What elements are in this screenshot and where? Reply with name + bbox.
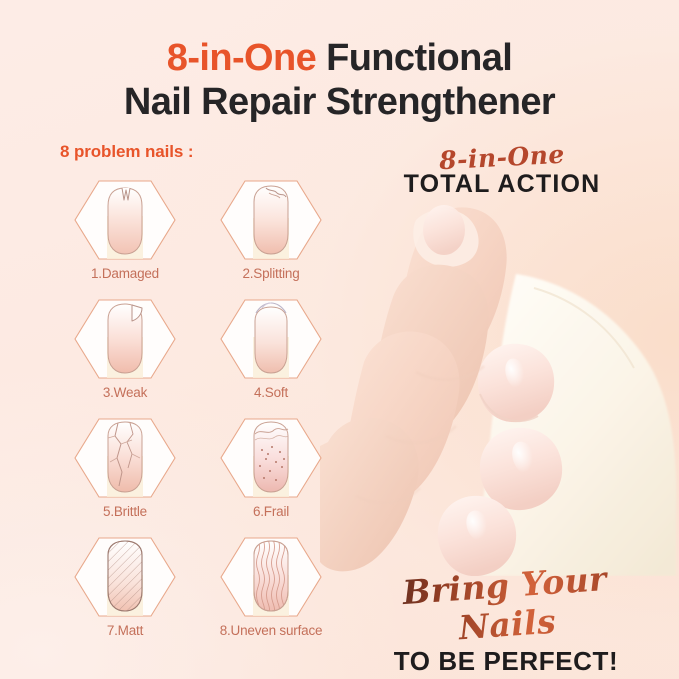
problem-nails-title: 8 problem nails : <box>60 142 340 162</box>
nail-weak-icon <box>60 295 190 383</box>
problem-nail-label: 2.Splitting <box>206 266 336 281</box>
headline-line2: Nail Repair Strengthener <box>26 80 653 124</box>
nail-soft-icon <box>206 295 336 383</box>
total-action-block: 8-in-One TOTAL ACTION <box>352 143 652 199</box>
problem-nail-label: 6.Frail <box>206 504 336 519</box>
poster-canvas: 8-in-One Functional Nail Repair Strength… <box>0 0 679 679</box>
problem-nail-label: 5.Brittle <box>60 504 190 519</box>
problem-nail-item[interactable]: 8.Uneven surface <box>206 533 336 648</box>
headline-accent: 8-in-One <box>167 37 316 79</box>
headline-rest: Functional <box>316 37 512 79</box>
problem-nail-item[interactable]: 1.Damaged <box>60 176 190 291</box>
nail-frail-icon <box>206 414 336 502</box>
problem-nail-item[interactable]: 4.Soft <box>206 295 336 410</box>
problem-nails-section: 8 problem nails : <box>60 142 340 648</box>
nail-splitting-icon <box>206 176 336 264</box>
problem-nail-item[interactable]: 7.Matt <box>60 533 190 648</box>
problem-nail-item[interactable]: 5.Brittle <box>60 414 190 529</box>
problem-nail-label: 3.Weak <box>60 385 190 400</box>
problem-nail-item[interactable]: 6.Frail <box>206 414 336 529</box>
tagline-script: Bring Your Nails <box>348 555 665 655</box>
problem-nail-item[interactable]: 2.Splitting <box>206 176 336 291</box>
problem-nail-label: 8.Uneven surface <box>206 623 336 638</box>
problem-nail-label: 1.Damaged <box>60 266 190 281</box>
manicured-hand-photo <box>320 196 679 576</box>
problem-nail-label: 7.Matt <box>60 623 190 638</box>
nail-matt-icon <box>60 533 190 621</box>
page-title: 8-in-One Functional Nail Repair Strength… <box>0 36 679 125</box>
nail-uneven-icon <box>206 533 336 621</box>
problem-nail-item[interactable]: 3.Weak <box>60 295 190 410</box>
tagline-block: Bring Your Nails TO BE PERFECT! <box>350 566 662 677</box>
problem-nails-grid: 1.Damaged <box>60 176 340 648</box>
problem-nail-label: 4.Soft <box>206 385 336 400</box>
nail-damaged-icon <box>60 176 190 264</box>
nail-brittle-icon <box>60 414 190 502</box>
